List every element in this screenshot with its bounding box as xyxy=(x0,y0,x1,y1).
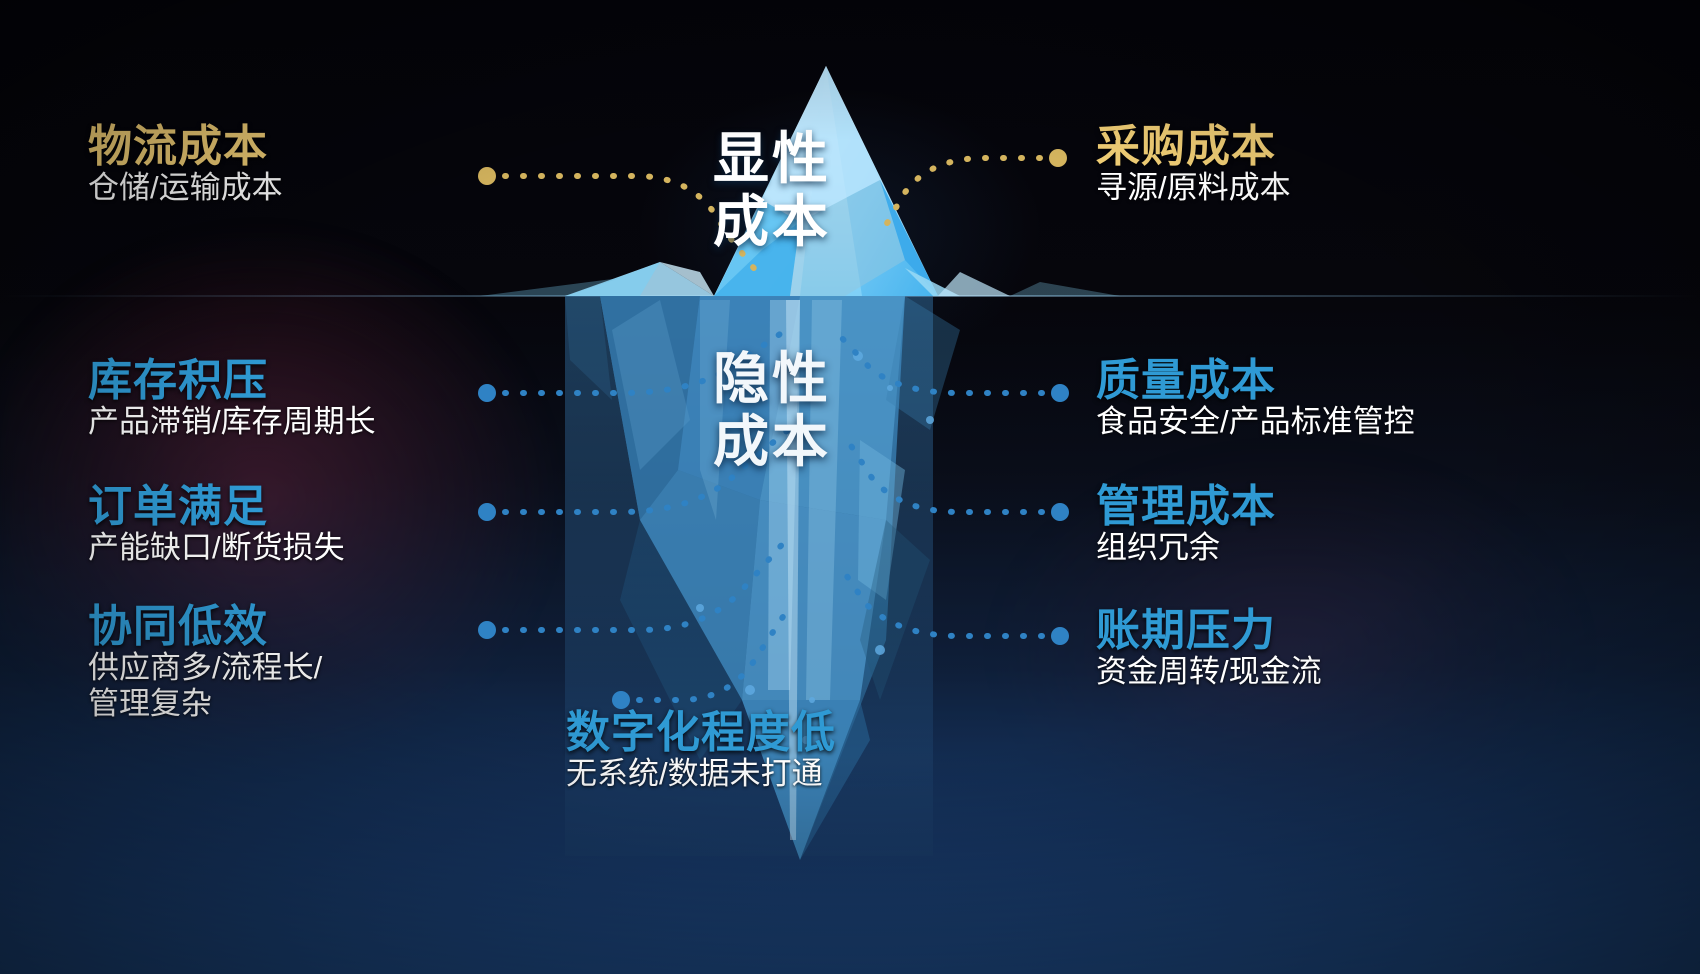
label-low-digitalization-subtitle: 无系统/数据未打通 xyxy=(566,756,836,793)
label-quality-cost[interactable]: 质量成本 食品安全/产品标准管控 xyxy=(1096,358,1415,440)
label-management-cost-subtitle: 组织冗余 xyxy=(1096,530,1276,567)
connector-management-cost xyxy=(846,438,1060,512)
label-inventory-backlog-subtitle: 产品滞销/库存周期长 xyxy=(88,404,376,441)
label-low-digitalization[interactable]: 数字化程度低 无系统/数据未打通 xyxy=(566,710,836,792)
label-logistics-cost-title: 物流成本 xyxy=(88,124,283,170)
connector-low-digitalization xyxy=(621,606,790,700)
connector-procurement-cost xyxy=(882,158,1058,232)
label-inventory-backlog-title: 库存积压 xyxy=(88,358,376,404)
label-collaboration-inefficiency-subtitle2: 管理复杂 xyxy=(88,686,322,723)
label-order-fulfillment-subtitle: 产能缺口/断货损失 xyxy=(88,530,345,567)
dot-logistics-cost xyxy=(478,167,496,185)
dot-quality-cost xyxy=(1051,384,1069,402)
dot-management-cost xyxy=(1051,503,1069,521)
label-order-fulfillment-title: 订单满足 xyxy=(88,484,345,530)
connector-quality-cost xyxy=(840,336,1060,393)
dot-procurement-cost xyxy=(1049,149,1067,167)
iceberg-cost-infographic: 显性 成本 隐性 成本 物流成本 仓储/运输成本 库存积压 产品滞销/库存周期长… xyxy=(0,0,1700,974)
iceberg-tip-label-line2: 成本 xyxy=(672,191,872,254)
label-collaboration-inefficiency-subtitle: 供应商多/流程长/ xyxy=(88,650,322,687)
label-procurement-cost[interactable]: 采购成本 寻源/原料成本 xyxy=(1096,124,1291,206)
label-procurement-cost-subtitle: 寻源/原料成本 xyxy=(1096,170,1291,207)
dot-low-digitalization xyxy=(612,691,630,709)
iceberg-base-label-line2: 成本 xyxy=(672,411,872,474)
label-payment-term-pressure-subtitle: 资金周转/现金流 xyxy=(1096,654,1322,691)
label-collaboration-inefficiency[interactable]: 协同低效 供应商多/流程长/ 管理复杂 xyxy=(88,604,322,723)
label-quality-cost-title: 质量成本 xyxy=(1096,358,1415,404)
dot-inventory-backlog xyxy=(478,384,496,402)
label-payment-term-pressure[interactable]: 账期压力 资金周转/现金流 xyxy=(1096,608,1322,690)
dot-payment-term-pressure xyxy=(1051,627,1069,645)
iceberg-tip-label: 显性 成本 xyxy=(672,128,872,253)
label-collaboration-inefficiency-title: 协同低效 xyxy=(88,604,322,650)
label-procurement-cost-title: 采购成本 xyxy=(1096,124,1291,170)
connector-collaboration-inefficiency xyxy=(487,540,786,630)
label-quality-cost-subtitle: 食品安全/产品标准管控 xyxy=(1096,404,1415,441)
label-payment-term-pressure-title: 账期压力 xyxy=(1096,608,1322,654)
label-logistics-cost-subtitle: 仓储/运输成本 xyxy=(88,170,283,207)
label-low-digitalization-title: 数字化程度低 xyxy=(566,710,836,756)
label-management-cost-title: 管理成本 xyxy=(1096,484,1276,530)
iceberg-base-label-line1: 隐性 xyxy=(672,348,872,411)
label-logistics-cost[interactable]: 物流成本 仓储/运输成本 xyxy=(88,124,283,206)
label-order-fulfillment[interactable]: 订单满足 产能缺口/断货损失 xyxy=(88,484,345,566)
label-management-cost[interactable]: 管理成本 组织冗余 xyxy=(1096,484,1276,566)
iceberg-tip-label-line1: 显性 xyxy=(672,128,872,191)
dot-collaboration-inefficiency xyxy=(478,621,496,639)
connector-payment-term-pressure xyxy=(840,566,1060,636)
label-inventory-backlog[interactable]: 库存积压 产品滞销/库存周期长 xyxy=(88,358,376,440)
dot-order-fulfillment xyxy=(478,503,496,521)
iceberg-base-label: 隐性 成本 xyxy=(672,348,872,473)
